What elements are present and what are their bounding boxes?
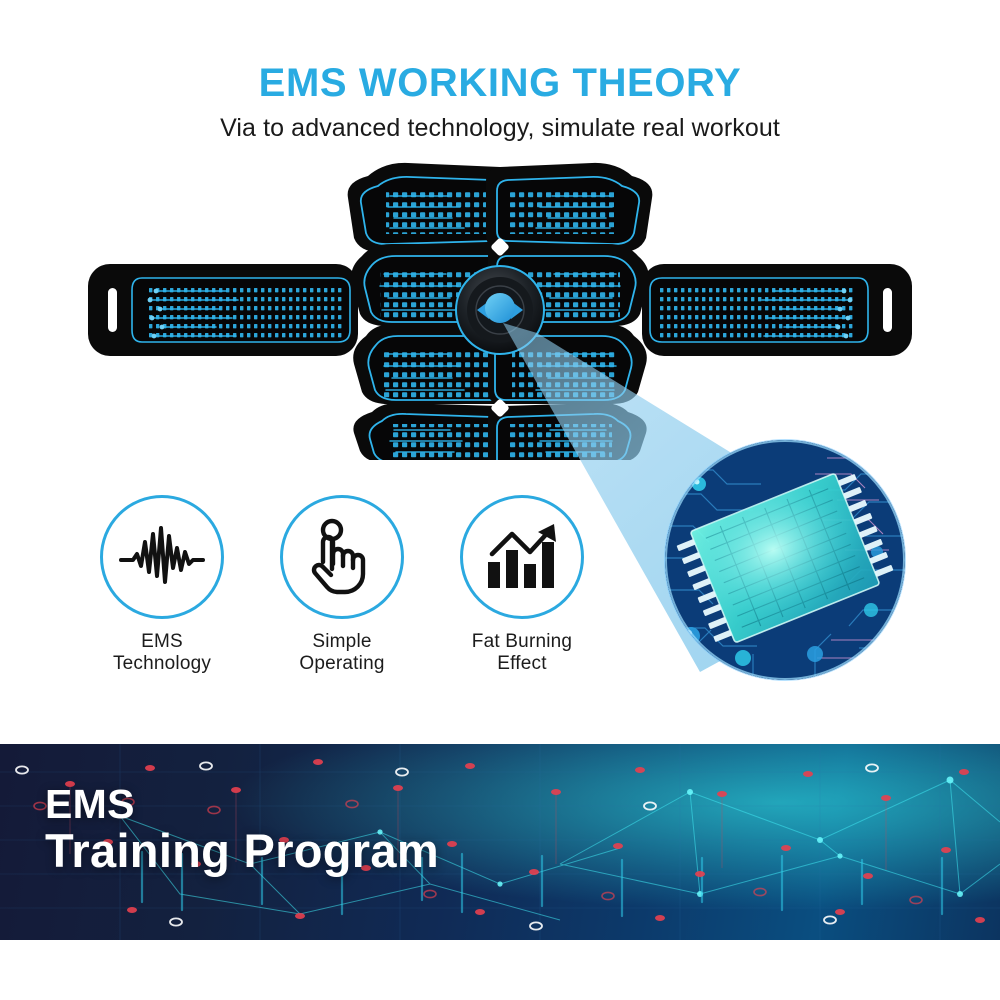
ems-training-program-banner: EMS Training Program: [0, 744, 1000, 940]
feature-label: EMS Technology: [72, 631, 252, 676]
banner-line-2: Training Program: [45, 826, 439, 876]
feature-circle: [100, 495, 224, 619]
pad-top-right: [486, 163, 652, 252]
bar-chart-arrow-icon: [482, 520, 562, 594]
ems-abs-stimulator-illustration: [50, 160, 950, 460]
banner-heading: EMS Training Program: [45, 784, 439, 876]
feature-circle: [280, 495, 404, 619]
pad-wing-left: [88, 264, 358, 356]
product-infographic: EMS WORKING THEORY Via to advanced techn…: [0, 0, 1000, 1000]
pad-wing-right: [642, 264, 912, 356]
feature-label: Simple Operating: [252, 631, 432, 676]
tap-hand-icon: [306, 518, 378, 596]
header: EMS WORKING THEORY Via to advanced techn…: [0, 0, 1000, 143]
center-control-button[interactable]: [456, 266, 544, 354]
waveform-icon: [119, 524, 205, 590]
page-subtitle: Via to advanced technology, simulate rea…: [0, 104, 1000, 143]
chip-magnifier: [665, 440, 905, 680]
feature-simple-operating[interactable]: Simple Operating: [252, 495, 432, 676]
banner-line-1: EMS: [45, 784, 439, 826]
feature-circle: [460, 495, 584, 619]
circuit-board-image: [665, 440, 905, 680]
pad-bottom-right: [488, 403, 647, 460]
feature-ems-technology[interactable]: EMS Technology: [72, 495, 252, 676]
product-image: [0, 160, 1000, 460]
feature-fat-burning-effect[interactable]: Fat Burning Effect: [432, 495, 612, 676]
page-title: EMS WORKING THEORY: [0, 0, 1000, 104]
feature-list: EMS Technology Simple: [90, 495, 650, 685]
feature-label: Fat Burning Effect: [432, 631, 612, 676]
